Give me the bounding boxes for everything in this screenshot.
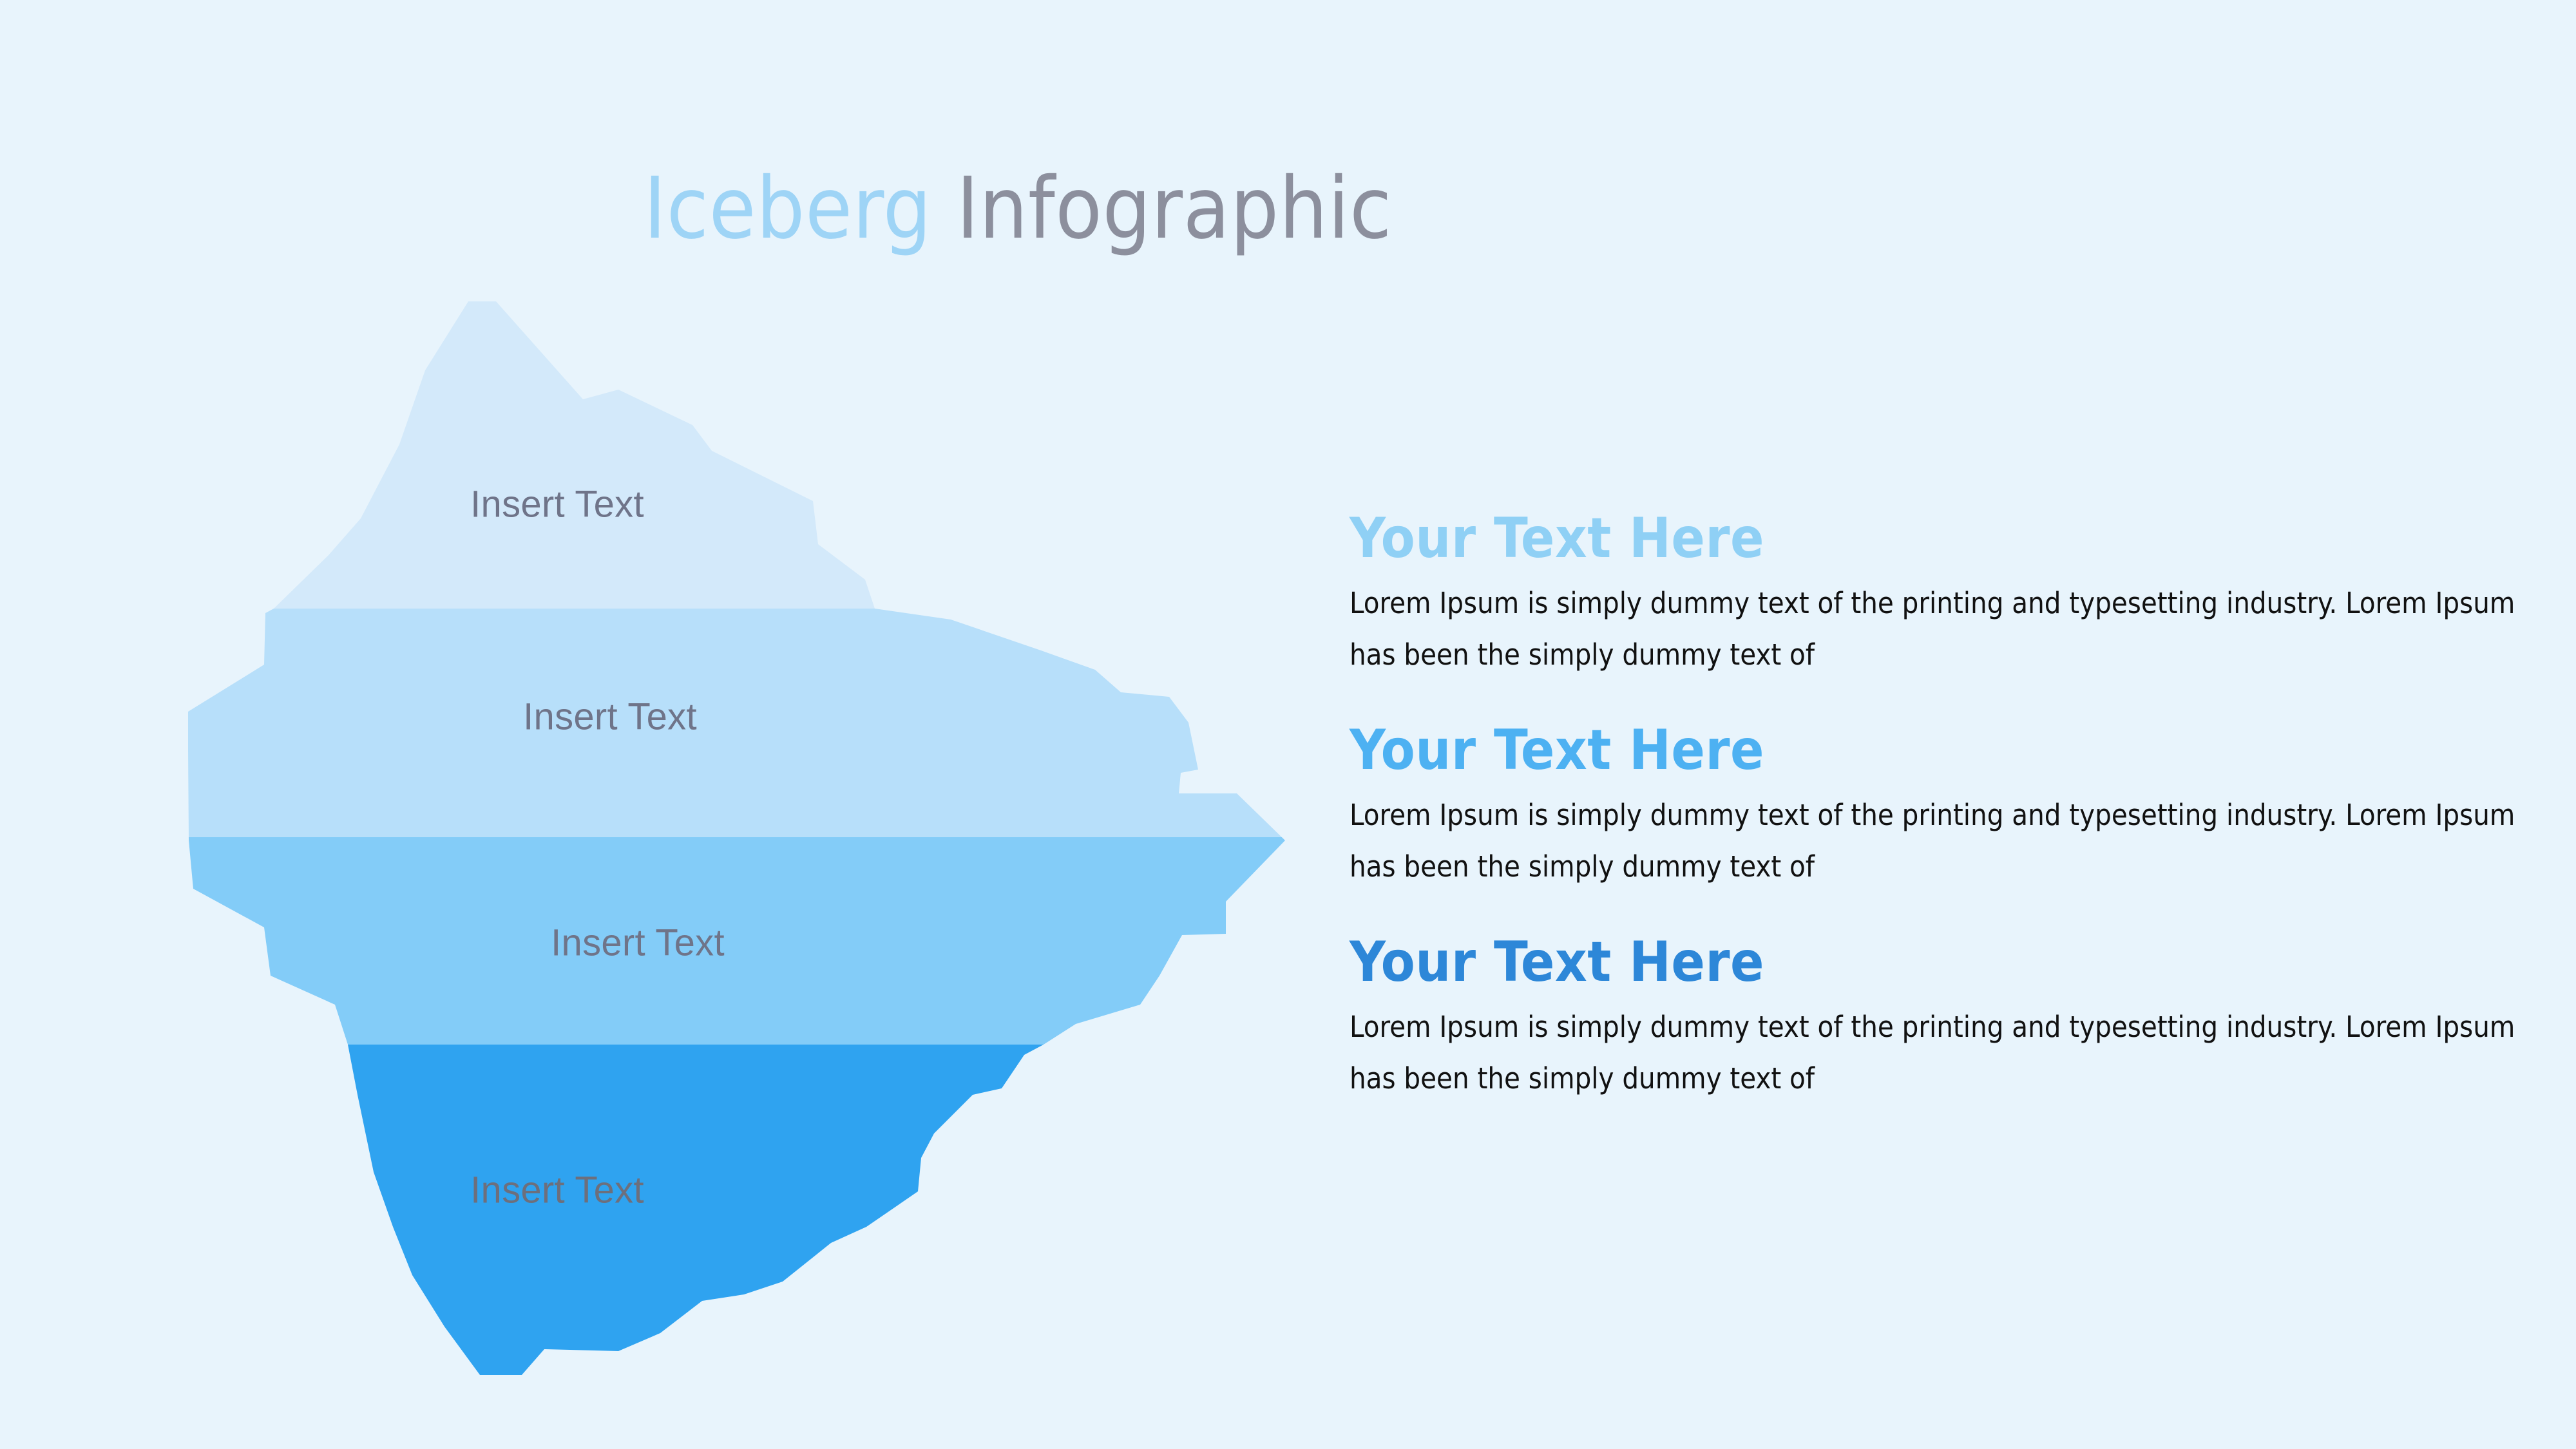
iceberg-shape-svg	[0, 0, 1417, 1449]
content-block-2: Your Text Here Lorem Ipsum is simply dum…	[1350, 721, 2561, 893]
iceberg-label-layer-1: Insert Text	[470, 483, 644, 526]
content-block-1: Your Text Here Lorem Ipsum is simply dum…	[1350, 509, 2561, 681]
content-heading-3: Your Text Here	[1350, 933, 2561, 992]
slide-canvas: Iceberg Infographic Insert Text	[0, 0, 2576, 1449]
content-body-2: Lorem Ipsum is simply dummy text of the …	[1350, 790, 2564, 893]
iceberg-layer-2-shape	[0, 609, 1417, 837]
iceberg-layer-1-shape	[0, 0, 1417, 609]
content-column: Your Text Here Lorem Ipsum is simply dum…	[1350, 509, 2561, 1104]
iceberg-label-layer-2: Insert Text	[523, 696, 697, 739]
iceberg-layer-4-shape	[0, 1045, 1417, 1449]
iceberg-illustration: Insert Text Insert Text Insert Text Inse…	[0, 0, 1417, 1449]
iceberg-label-layer-4: Insert Text	[470, 1169, 644, 1212]
content-heading-2: Your Text Here	[1350, 721, 2561, 781]
content-block-3: Your Text Here Lorem Ipsum is simply dum…	[1350, 933, 2561, 1104]
content-body-3: Lorem Ipsum is simply dummy text of the …	[1350, 1001, 2564, 1104]
iceberg-label-layer-3: Insert Text	[551, 922, 725, 965]
content-body-1: Lorem Ipsum is simply dummy text of the …	[1350, 578, 2564, 681]
content-heading-1: Your Text Here	[1350, 509, 2561, 569]
